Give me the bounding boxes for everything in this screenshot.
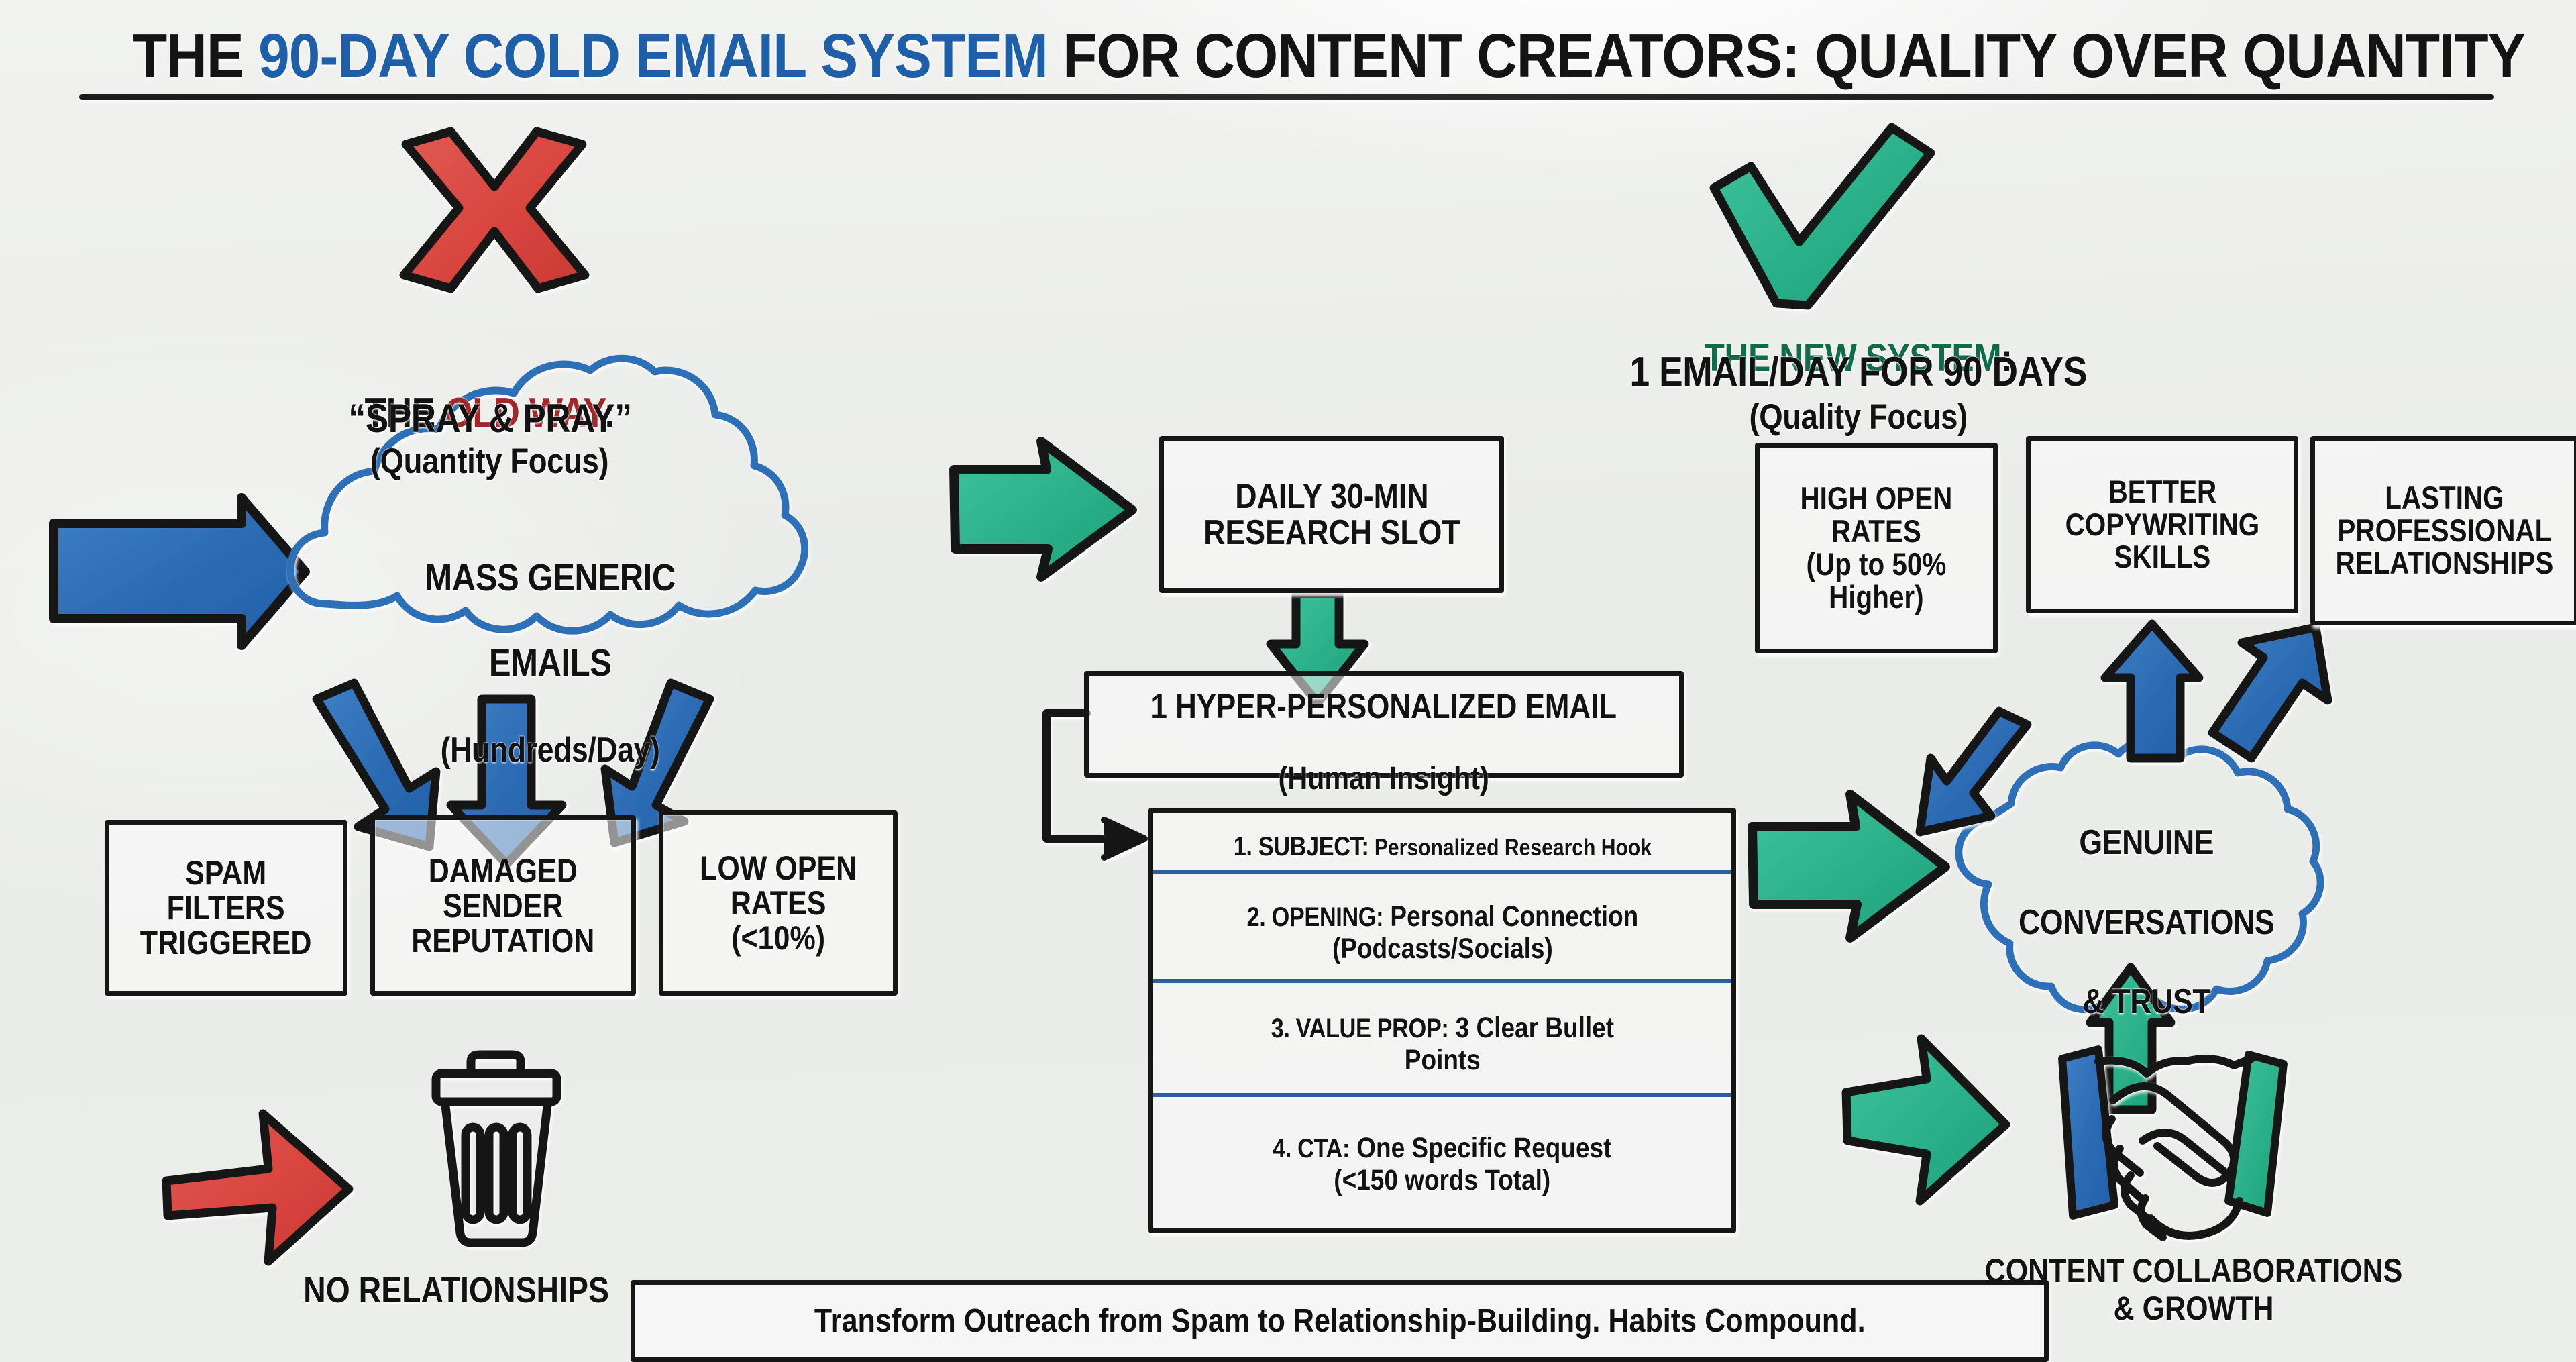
- benefit-box-lasting-relationships[interactable]: LASTING PROFESSIONAL RELATIONSHIPS: [2310, 436, 2576, 625]
- page-title: THE 90-DAY COLD EMAIL SYSTEM FOR CONTENT…: [0, 20, 2576, 92]
- benefit-box-label: LASTING PROFESSIONAL RELATIONSHIPS: [2336, 482, 2554, 580]
- cloud-line-3: & TRUST: [2083, 982, 2211, 1022]
- cloud-line-1: MASS GENERIC: [425, 557, 675, 600]
- footer-text: Transform Outreach from Spam to Relation…: [814, 1302, 1866, 1340]
- title-underline: [79, 94, 2494, 100]
- outcome-box-damaged-reputation[interactable]: DAMAGED SENDER REPUTATION: [370, 815, 636, 996]
- benefit-box-label: BETTER COPYWRITING SKILLS: [2065, 476, 2259, 574]
- email-structure-list: 1. SUBJECT: Personalized Research Hook 2…: [1148, 808, 1736, 1233]
- title-suffix: FOR CONTENT CREATORS: QUALITY OVER QUANT…: [1048, 21, 2525, 91]
- genuine-conversations-label: GENUINE CONVERSATIONS & TRUST: [1972, 784, 2321, 1023]
- title-prefix: THE: [133, 21, 258, 91]
- step-key: 2. OPENING:: [1246, 902, 1383, 932]
- email-box-line-1: 1 HYPER-PERSONALIZED EMAIL: [1151, 688, 1617, 724]
- research-slot-label: DAILY 30-MIN RESEARCH SLOT: [1203, 478, 1460, 551]
- cloud-line-2: EMAILS: [489, 642, 612, 685]
- benefit-box-copywriting-skills[interactable]: BETTER COPYWRITING SKILLS: [2026, 436, 2298, 613]
- old-way-note: (Quantity Focus): [215, 405, 765, 480]
- footer-banner: Transform Outreach from Spam to Relation…: [631, 1280, 2049, 1362]
- new-system-note-text: (Quality Focus): [1749, 399, 1967, 436]
- email-box-line-2: (Human Insight): [1279, 762, 1489, 796]
- cloud-line-1: GENUINE: [2080, 823, 2214, 863]
- list-item[interactable]: 1. SUBJECT: Personalized Research Hook: [1153, 813, 1731, 874]
- step-value: One Specific Request (<150 words Total): [1334, 1132, 1612, 1196]
- benefit-box-high-open-rates[interactable]: HIGH OPEN RATES (Up to 50% Higher): [1755, 443, 1998, 653]
- outcome-box-label: DAMAGED SENDER REPUTATION: [411, 853, 594, 958]
- list-item[interactable]: 4. CTA: One Specific Request (<150 words…: [1153, 1097, 1731, 1219]
- no-relationships-caption: NO RELATIONSHIPS: [221, 1233, 691, 1309]
- step-key: 3. VALUE PROP:: [1271, 1014, 1448, 1043]
- step-key: 1. SUBJECT:: [1233, 832, 1368, 861]
- cloud-line-2: CONVERSATIONS: [2019, 903, 2274, 943]
- benefit-box-label: HIGH OPEN RATES (Up to 50% Higher): [1801, 482, 1953, 614]
- mass-generic-emails-label: MASS GENERIC EMAILS (Hundreds/Day): [288, 514, 812, 771]
- list-item[interactable]: 3. VALUE PROP: 3 Clear Bullet Points: [1153, 983, 1731, 1097]
- outcome-box-label: LOW OPEN RATES (<10%): [700, 851, 857, 955]
- old-way-note-text: (Quantity Focus): [370, 443, 608, 480]
- step-value: Personalized Research Hook: [1368, 835, 1652, 861]
- outcome-box-spam-filters[interactable]: SPAM FILTERS TRIGGERED: [105, 820, 347, 996]
- list-item[interactable]: 2. OPENING: Personal Connection (Podcast…: [1153, 874, 1731, 983]
- hyper-personalized-email-box[interactable]: 1 HYPER-PERSONALIZED EMAIL (Human Insigh…: [1084, 671, 1684, 778]
- cloud-line-3: (Hundreds/Day): [441, 731, 660, 770]
- outcome-box-label: SPAM FILTERS TRIGGERED: [140, 855, 312, 960]
- research-slot-box[interactable]: DAILY 30-MIN RESEARCH SLOT: [1159, 436, 1504, 593]
- step-key: 4. CTA:: [1273, 1134, 1350, 1163]
- title-highlight: 90-DAY COLD EMAIL SYSTEM: [258, 21, 1048, 91]
- no-relationships-text: NO RELATIONSHIPS: [303, 1271, 609, 1310]
- new-system-note: (Quality Focus): [1523, 361, 2194, 436]
- outcome-box-low-open-rates[interactable]: LOW OPEN RATES (<10%): [659, 810, 898, 996]
